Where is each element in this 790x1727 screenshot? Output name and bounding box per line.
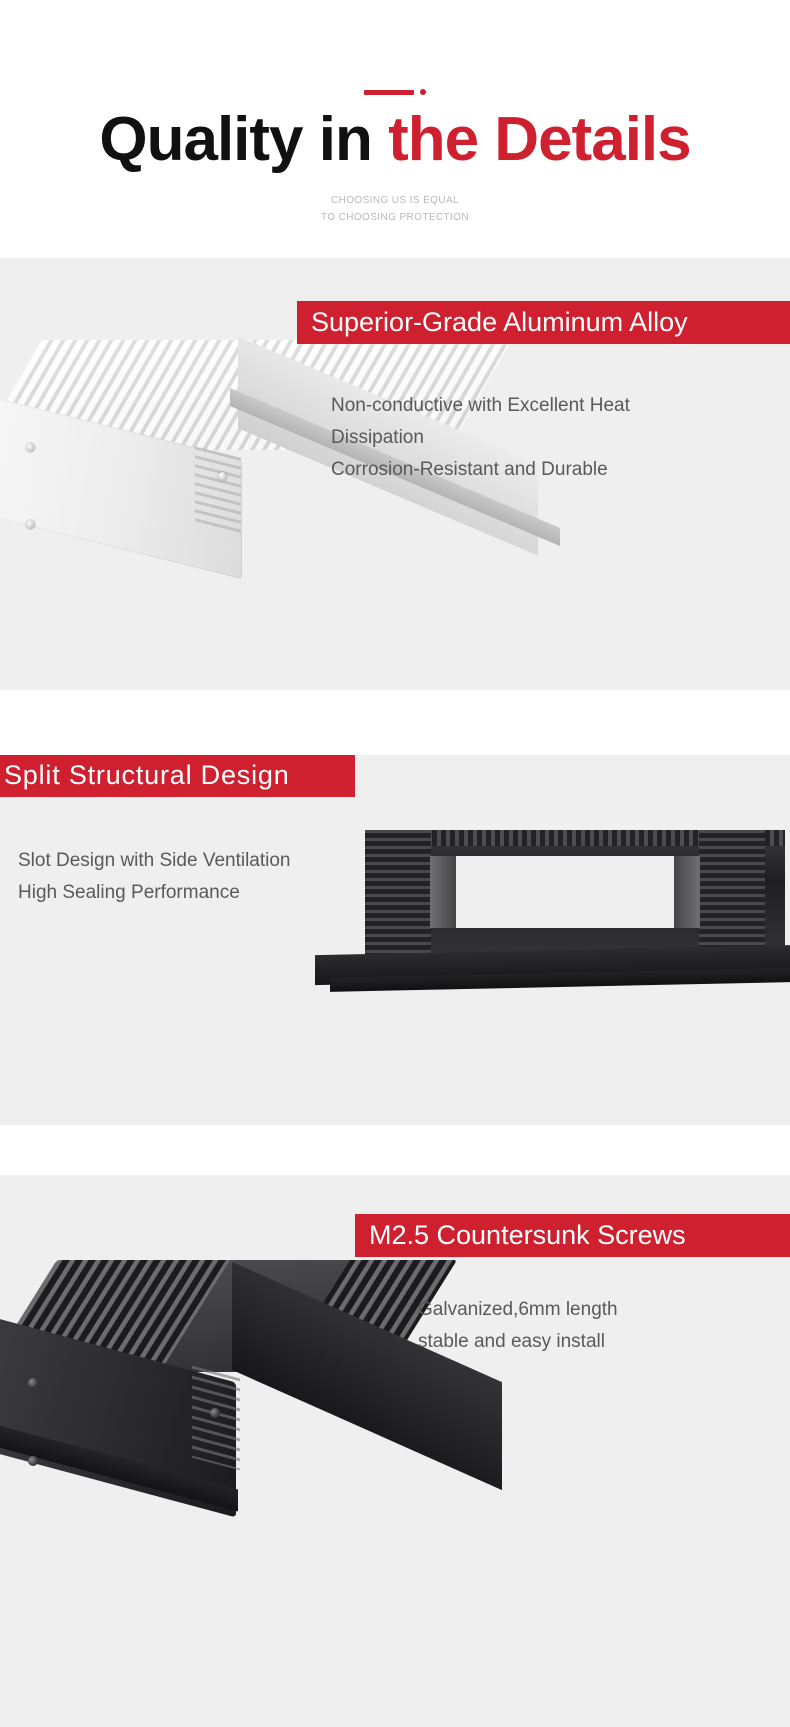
enclosure-edge-ridges bbox=[195, 446, 241, 537]
feature-description-split-structure: Slot Design with Side Ventilation High S… bbox=[18, 845, 291, 909]
subtitle-line-2: TO CHOOSING PROTECTION bbox=[0, 209, 790, 226]
screw-icon bbox=[28, 1456, 38, 1466]
page-title-part-two: the Details bbox=[388, 105, 691, 174]
screw-icon bbox=[210, 1408, 220, 1418]
feature-banner-split-structure: Split Structural Design bbox=[0, 755, 355, 797]
page-header: Quality in the Details CHOOSING US IS EQ… bbox=[0, 0, 790, 258]
subtitle-line-1: CHOOSING US IS EQUAL bbox=[0, 192, 790, 209]
feature-description-line-2: stable and easy install bbox=[418, 1326, 618, 1358]
red-dot-icon bbox=[420, 89, 426, 95]
page-title: Quality in the Details bbox=[0, 104, 790, 176]
feature-section-split-structure: Split Structural Design Slot Design with… bbox=[0, 755, 790, 1125]
profile-right-ribs bbox=[699, 830, 765, 958]
header-subtitle: CHOOSING US IS EQUAL TO CHOOSING PROTECT… bbox=[0, 192, 790, 226]
section-divider-one bbox=[0, 690, 790, 755]
profile-inner-cavity bbox=[430, 856, 700, 928]
feature-description-line-1: Non-conductive with Excellent Heat bbox=[331, 390, 630, 422]
profile-inner-left-slot bbox=[430, 856, 456, 928]
black-enclosure-edge-ridges bbox=[192, 1366, 240, 1471]
feature-description-aluminum-alloy: Non-conductive with Excellent Heat Dissi… bbox=[331, 390, 630, 486]
feature-section-aluminum-alloy: Superior-Grade Aluminum Alloy Non-conduc… bbox=[0, 258, 790, 690]
feature-description-countersunk-screws: Galvanized,6mm length stable and easy in… bbox=[418, 1294, 618, 1358]
red-dash-icon bbox=[364, 90, 414, 95]
screw-icon bbox=[26, 443, 35, 452]
section-divider-two bbox=[0, 1125, 790, 1175]
product-detail-page: Quality in the Details CHOOSING US IS EQ… bbox=[0, 0, 790, 1727]
screw-icon bbox=[218, 472, 227, 481]
feature-description-line-3: Corrosion-Resistant and Durable bbox=[331, 454, 630, 486]
feature-description-line-2: High Sealing Performance bbox=[18, 877, 291, 909]
feature-banner-aluminum-alloy: Superior-Grade Aluminum Alloy bbox=[297, 301, 790, 344]
feature-section-countersunk-screws: M2.5 Countersunk Screws Galvanized,6mm l… bbox=[0, 1175, 790, 1727]
screw-icon bbox=[26, 520, 35, 529]
header-decoration bbox=[0, 86, 790, 98]
product-image-split-profile bbox=[310, 830, 790, 1045]
profile-inner-right-slot bbox=[674, 856, 700, 928]
page-title-part-one: Quality in bbox=[99, 105, 388, 174]
feature-description-line-2: Dissipation bbox=[331, 422, 630, 454]
profile-left-ribs bbox=[365, 830, 431, 958]
feature-description-line-1: Slot Design with Side Ventilation bbox=[18, 845, 291, 877]
screw-icon bbox=[28, 1378, 38, 1388]
feature-description-line-1: Galvanized,6mm length bbox=[418, 1294, 618, 1326]
feature-banner-countersunk-screws: M2.5 Countersunk Screws bbox=[355, 1214, 790, 1257]
